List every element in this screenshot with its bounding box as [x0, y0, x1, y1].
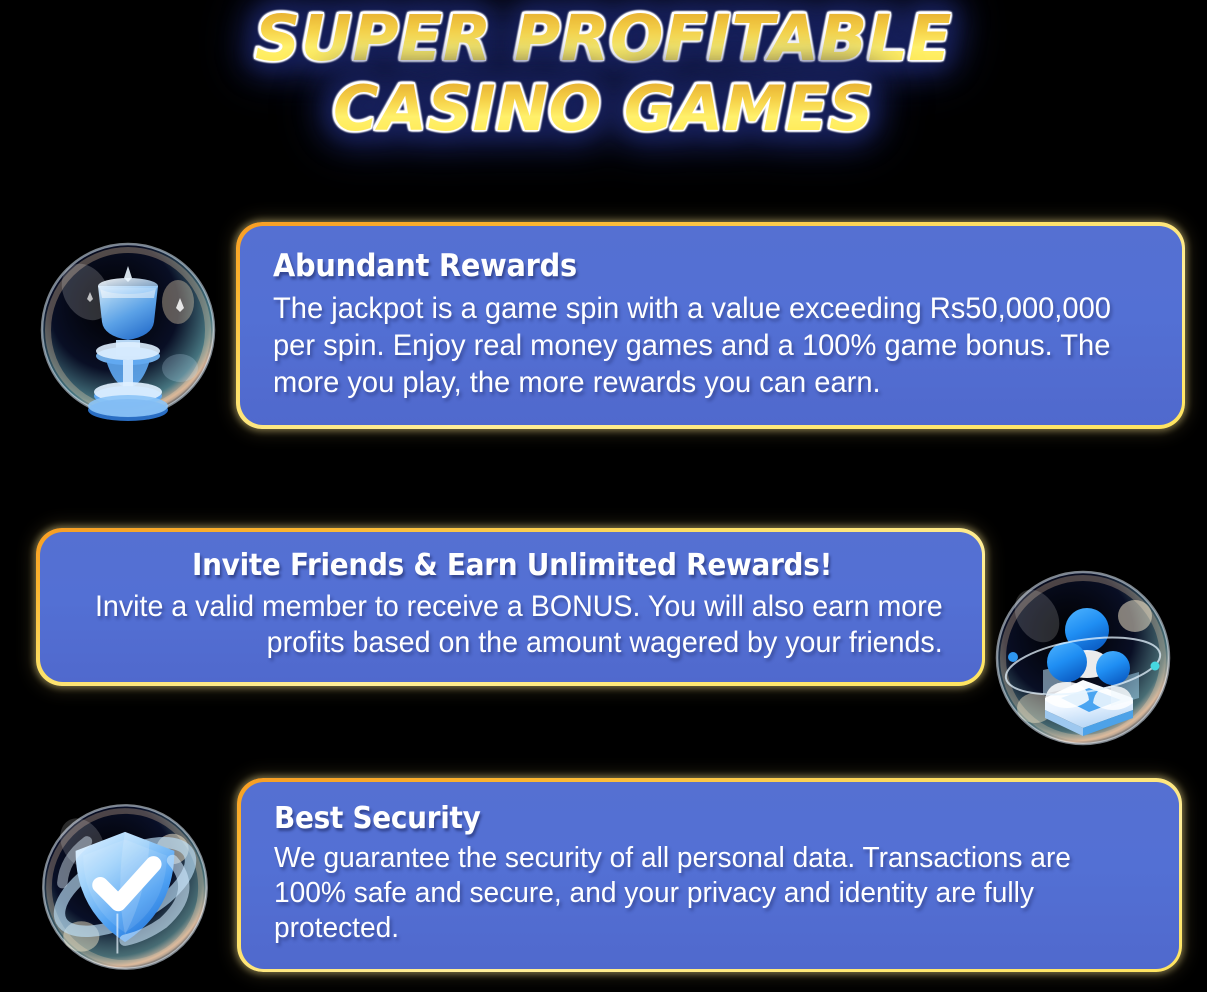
- card-heading: Best Security: [274, 801, 1090, 836]
- card-body-text: We guarantee the security of all persona…: [274, 841, 1125, 947]
- feature-row-abundant-rewards: Abundant Rewards The jackpot is a game s…: [0, 222, 1200, 429]
- page-title-line-2: CASINO GAMES: [0, 77, 1207, 142]
- card-body-text: Invite a valid member to receive a BONUS…: [81, 589, 942, 663]
- page-title-line-1: SUPER PROFITABLE: [0, 6, 1207, 72]
- group-people-bubble-icon: [983, 558, 1183, 758]
- page-title: SUPER PROFITABLE CASINO GAMES: [0, 6, 1207, 141]
- card-heading: Abundant Rewards: [273, 248, 1090, 284]
- card-heading: Invite Friends & Earn Unlimited Rewards!: [99, 548, 925, 583]
- feature-card-invite-friends[interactable]: Invite Friends & Earn Unlimited Rewards!…: [36, 528, 985, 686]
- trophy-bubble-icon: [28, 230, 228, 430]
- feature-row-best-security: Best Security We guarantee the security …: [0, 778, 1200, 972]
- feature-card-best-security[interactable]: Best Security We guarantee the security …: [237, 778, 1182, 972]
- shield-check-bubble-icon: [30, 792, 220, 982]
- feature-row-invite-friends: Invite Friends & Earn Unlimited Rewards!…: [0, 528, 1200, 686]
- card-body-text: The jackpot is a game spin with a value …: [273, 290, 1126, 402]
- feature-card-abundant-rewards[interactable]: Abundant Rewards The jackpot is a game s…: [236, 222, 1185, 429]
- promo-banner: SUPER PROFITABLE CASINO GAMES: [0, 0, 1207, 992]
